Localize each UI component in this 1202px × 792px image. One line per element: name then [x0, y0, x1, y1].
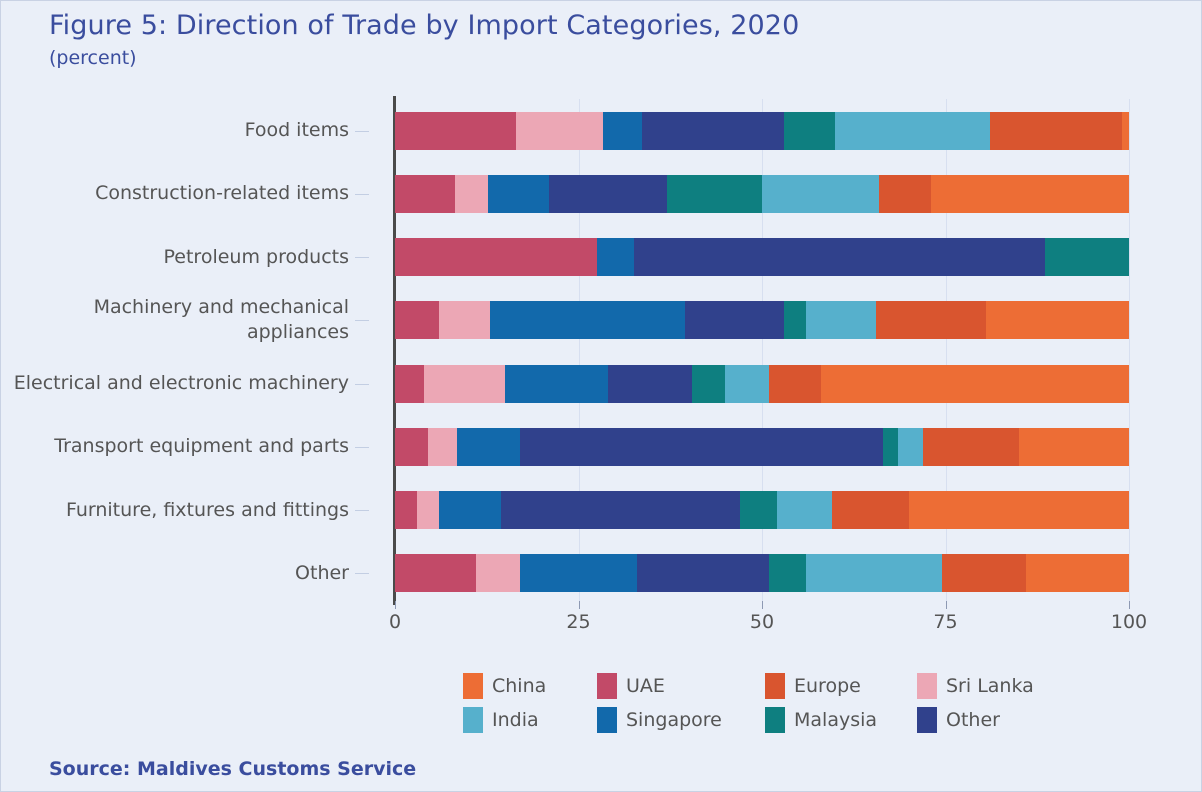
bar-segment-europe[interactable]: [876, 301, 986, 339]
gridline: [1129, 99, 1130, 605]
x-axis-tick-label: 75: [933, 611, 957, 633]
y-axis-category-label: Other: [9, 561, 349, 586]
bar-segment-india[interactable]: [806, 554, 942, 592]
legend-item-uae[interactable]: UAE: [597, 673, 765, 699]
legend-label: Sri Lanka: [946, 675, 1034, 697]
bar-row[interactable]: [395, 554, 1129, 592]
bar-row[interactable]: [395, 365, 1129, 403]
y-axis-tick: [355, 320, 369, 321]
x-axis-tick: [1129, 601, 1130, 609]
legend-swatch-icon: [765, 707, 785, 733]
stacked-bar[interactable]: [395, 428, 1129, 466]
stacked-bar[interactable]: [395, 301, 1129, 339]
y-axis-tick: [355, 384, 369, 385]
bar-segment-other[interactable]: [501, 491, 740, 529]
bar-segment-china[interactable]: [1026, 554, 1129, 592]
y-axis-category-label: Petroleum products: [9, 245, 349, 270]
legend-label: India: [492, 709, 539, 731]
bar-segment-malaysia[interactable]: [740, 491, 777, 529]
bar-segment-sri-lanka[interactable]: [476, 554, 520, 592]
plot-area: [395, 99, 1129, 605]
bar-segment-india[interactable]: [762, 175, 879, 213]
x-axis-tick-label: 25: [566, 611, 590, 633]
figure-header: Figure 5: Direction of Trade by Import C…: [49, 9, 1149, 71]
legend-label: UAE: [626, 675, 665, 697]
stacked-bar[interactable]: [395, 112, 1129, 150]
bar-segment-malaysia[interactable]: [784, 301, 806, 339]
bar-segment-uae[interactable]: [395, 112, 516, 150]
bar-row[interactable]: [395, 238, 1129, 276]
legend-item-singapore[interactable]: Singapore: [597, 707, 765, 733]
y-axis-tick: [355, 257, 369, 258]
bar-segment-china[interactable]: [909, 491, 1129, 529]
legend-item-europe[interactable]: Europe: [765, 673, 917, 699]
bar-segment-malaysia[interactable]: [692, 365, 725, 403]
bar-segment-europe[interactable]: [942, 554, 1026, 592]
bar-segment-malaysia[interactable]: [784, 112, 835, 150]
stacked-bar[interactable]: [395, 365, 1129, 403]
y-axis-category-label: Food items: [9, 118, 349, 143]
bar-segment-uae[interactable]: [395, 491, 417, 529]
bar-segment-other[interactable]: [549, 175, 666, 213]
bar-segment-sri-lanka[interactable]: [417, 491, 439, 529]
bar-row[interactable]: [395, 175, 1129, 213]
legend-swatch-icon: [463, 673, 483, 699]
legend-label: Other: [946, 709, 1000, 731]
bar-segment-europe[interactable]: [923, 428, 1018, 466]
bar-segment-india[interactable]: [806, 301, 876, 339]
bar-segment-uae[interactable]: [395, 301, 439, 339]
y-axis-category-label: Furniture, fixtures and fittings: [9, 498, 349, 523]
bar-segment-malaysia[interactable]: [667, 175, 762, 213]
x-axis-tick: [762, 601, 763, 609]
bar-segment-singapore[interactable]: [488, 175, 549, 213]
legend-swatch-icon: [597, 707, 617, 733]
bar-segment-sri-lanka[interactable]: [455, 175, 488, 213]
bar-segment-china[interactable]: [931, 175, 1129, 213]
bar-segment-singapore[interactable]: [520, 554, 637, 592]
x-axis-tick-label: 100: [1111, 611, 1147, 633]
stacked-bar[interactable]: [395, 238, 1129, 276]
bar-segment-malaysia[interactable]: [883, 428, 898, 466]
legend-swatch-icon: [917, 673, 937, 699]
y-axis-tick: [355, 131, 369, 132]
x-axis-labels: 0255075100: [395, 611, 1129, 641]
bar-segment-europe[interactable]: [879, 175, 930, 213]
bar-segment-china[interactable]: [1019, 428, 1129, 466]
bar-segment-singapore[interactable]: [505, 365, 608, 403]
bar-segment-malaysia[interactable]: [769, 554, 806, 592]
legend-label: Europe: [794, 675, 861, 697]
bar-segment-china[interactable]: [1122, 112, 1129, 150]
chart-legend: ChinaUAEEuropeSri LankaIndiaSingaporeMal…: [463, 669, 1063, 737]
bar-row[interactable]: [395, 491, 1129, 529]
legend-item-malaysia[interactable]: Malaysia: [765, 707, 917, 733]
x-axis-tick: [395, 601, 396, 609]
bar-segment-singapore[interactable]: [439, 491, 501, 529]
y-axis-category-label: Construction-related items: [9, 181, 349, 206]
bar-segment-singapore[interactable]: [490, 301, 685, 339]
legend-swatch-icon: [597, 673, 617, 699]
bar-segment-singapore[interactable]: [603, 112, 642, 150]
bar-segment-uae[interactable]: [395, 554, 476, 592]
bar-segment-china[interactable]: [986, 301, 1129, 339]
y-axis-tick: [355, 573, 369, 574]
bar-row[interactable]: [395, 428, 1129, 466]
legend-swatch-icon: [463, 707, 483, 733]
x-axis-tick-label: 50: [750, 611, 774, 633]
bar-segment-other[interactable]: [685, 301, 784, 339]
legend-swatch-icon: [765, 673, 785, 699]
bar-rows: [395, 99, 1129, 605]
bar-segment-uae[interactable]: [395, 238, 597, 276]
bar-segment-india[interactable]: [777, 491, 832, 529]
bar-segment-uae[interactable]: [395, 175, 455, 213]
source-note: Source: Maldives Customs Service: [49, 758, 416, 780]
stacked-bar[interactable]: [395, 554, 1129, 592]
bar-segment-sri-lanka[interactable]: [424, 365, 505, 403]
bar-segment-malaysia[interactable]: [1045, 238, 1129, 276]
y-axis-labels: Food itemsConstruction-related itemsPetr…: [1, 99, 371, 605]
x-axis-tick-label: 0: [389, 611, 401, 633]
legend-item-china[interactable]: China: [463, 673, 597, 699]
bar-segment-other[interactable]: [634, 238, 1045, 276]
bar-row[interactable]: [395, 112, 1129, 150]
bar-segment-uae[interactable]: [395, 428, 428, 466]
bar-segment-india[interactable]: [898, 428, 924, 466]
bar-segment-china[interactable]: [821, 365, 1129, 403]
bar-segment-other[interactable]: [608, 365, 692, 403]
bar-segment-sri-lanka[interactable]: [439, 301, 490, 339]
stacked-bar[interactable]: [395, 491, 1129, 529]
y-axis-tick: [355, 510, 369, 511]
bar-segment-sri-lanka[interactable]: [428, 428, 457, 466]
bar-segment-singapore[interactable]: [457, 428, 519, 466]
bar-segment-india[interactable]: [725, 365, 769, 403]
y-axis-category-label: Electrical and electronic machinery: [9, 371, 349, 396]
figure-container: Figure 5: Direction of Trade by Import C…: [0, 0, 1202, 792]
bar-segment-other[interactable]: [637, 554, 769, 592]
figure-subtitle: (percent): [49, 45, 1149, 71]
bar-segment-india[interactable]: [835, 112, 989, 150]
figure-title: Figure 5: Direction of Trade by Import C…: [49, 9, 1149, 43]
bar-segment-other[interactable]: [642, 112, 784, 150]
bar-row[interactable]: [395, 301, 1129, 339]
legend-label: China: [492, 675, 546, 697]
bar-segment-europe[interactable]: [832, 491, 909, 529]
stacked-bar[interactable]: [395, 175, 1129, 213]
legend-label: Singapore: [626, 709, 722, 731]
bar-segment-singapore[interactable]: [597, 238, 634, 276]
legend-item-sri-lanka[interactable]: Sri Lanka: [917, 673, 1067, 699]
x-axis-tick: [579, 601, 580, 609]
y-axis-category-label: Transport equipment and parts: [9, 434, 349, 459]
legend-swatch-icon: [917, 707, 937, 733]
bar-segment-europe[interactable]: [990, 112, 1122, 150]
legend-item-other[interactable]: Other: [917, 707, 1067, 733]
legend-label: Malaysia: [794, 709, 877, 731]
bar-segment-other[interactable]: [520, 428, 883, 466]
bar-segment-europe[interactable]: [769, 365, 820, 403]
bar-segment-uae[interactable]: [395, 365, 424, 403]
y-axis-category-label: Machinery and mechanical appliances: [9, 295, 349, 345]
bar-segment-sri-lanka[interactable]: [516, 112, 603, 150]
y-axis-tick: [355, 447, 369, 448]
legend-item-india[interactable]: India: [463, 707, 597, 733]
x-axis-tick: [946, 601, 947, 609]
y-axis-tick: [355, 194, 369, 195]
